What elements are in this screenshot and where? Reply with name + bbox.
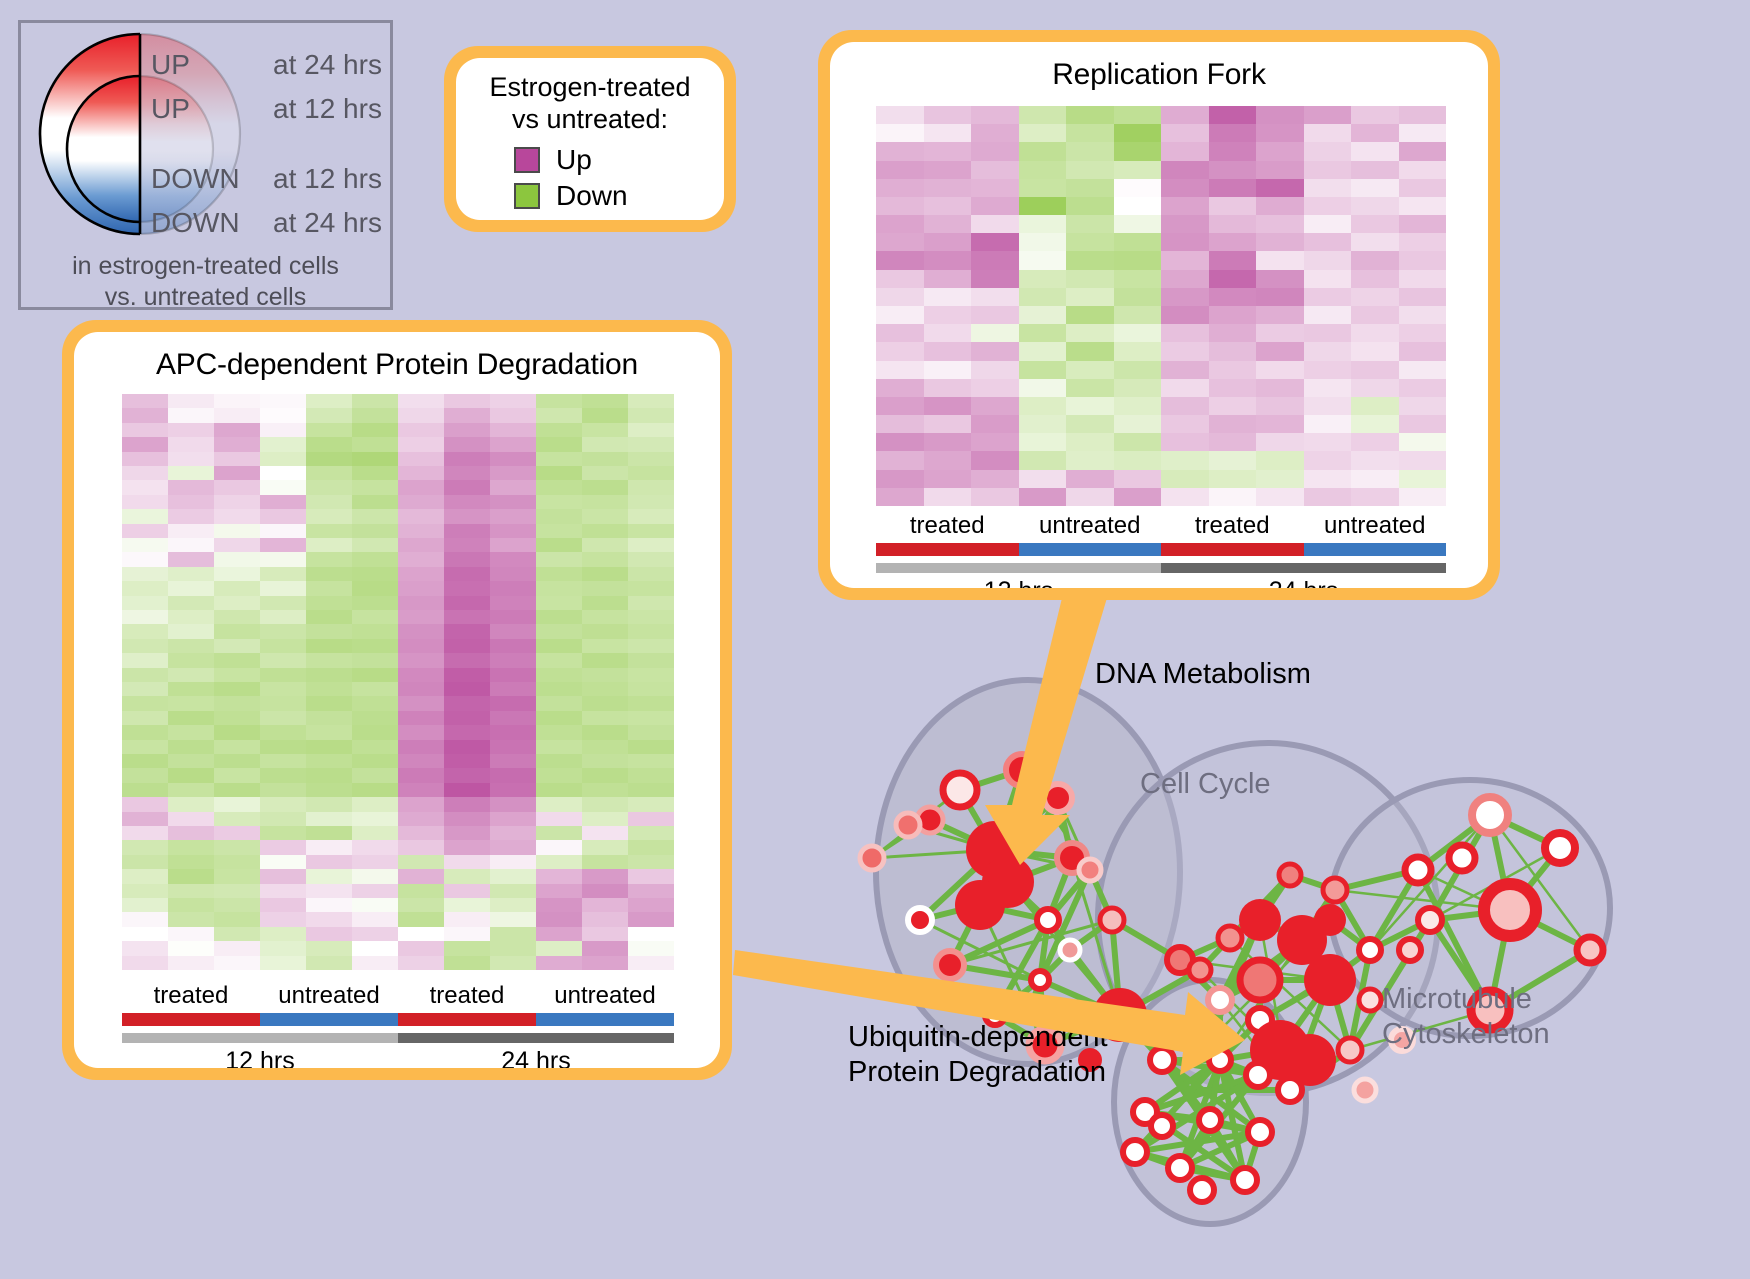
heatmap-cell xyxy=(122,668,168,682)
heatmap-cell xyxy=(628,668,674,682)
heatmap-cell xyxy=(1066,161,1114,179)
heatmap-cell xyxy=(444,509,490,523)
heatmap-cell xyxy=(260,840,306,854)
heatmap-cell xyxy=(876,451,924,469)
heatmap-cell xyxy=(352,682,398,696)
heatmap-cell xyxy=(1114,215,1162,233)
heatmap-cell xyxy=(1256,488,1304,506)
heatmap-cell xyxy=(444,797,490,811)
heatmap-cell xyxy=(1209,215,1257,233)
heatmap-cell xyxy=(971,306,1019,324)
heatmap-cell xyxy=(1019,415,1067,433)
heatmap-cell xyxy=(398,783,444,797)
heatmap-cell xyxy=(1351,288,1399,306)
heatmap-cell xyxy=(1019,470,1067,488)
heatmap-cell xyxy=(1399,470,1447,488)
heatmap-cell xyxy=(306,639,352,653)
heatmap-cell xyxy=(214,480,260,494)
heatmap-cell xyxy=(582,855,628,869)
heatmap-cell xyxy=(490,941,536,955)
heatmap-cell xyxy=(168,552,214,566)
network-node xyxy=(943,773,977,807)
heatmap-cell xyxy=(168,567,214,581)
heatmap-cell xyxy=(1256,233,1304,251)
heatmap-cell xyxy=(260,610,306,624)
heatmap-cell xyxy=(352,869,398,883)
heatmap-cell xyxy=(168,783,214,797)
heatmap-cell xyxy=(924,197,972,215)
ring-legend-footnote-line2: vs. untreated cells xyxy=(21,282,390,313)
heatmap-cell xyxy=(1114,288,1162,306)
heatmap-cell xyxy=(122,696,168,710)
heatmap-cell xyxy=(122,768,168,782)
heatmap-cell xyxy=(122,610,168,624)
heatmap-cell xyxy=(490,855,536,869)
heatmap-cell xyxy=(1161,161,1209,179)
heatmap-cell xyxy=(306,783,352,797)
heatmap-cell xyxy=(490,509,536,523)
heatmap-cell xyxy=(924,324,972,342)
heatmap-cell xyxy=(168,452,214,466)
heatmap-cell xyxy=(352,768,398,782)
heatmap-cell xyxy=(1066,488,1114,506)
heatmap-cell xyxy=(1114,488,1162,506)
heatmap-cell xyxy=(444,610,490,624)
heatmap-cell xyxy=(260,480,306,494)
heatmap-cell xyxy=(490,452,536,466)
cluster-label-microtubule-line2: Cytoskeleton xyxy=(1382,1017,1550,1052)
heatmap-cell xyxy=(536,495,582,509)
heatmap-cell xyxy=(628,408,674,422)
network-node xyxy=(1359,989,1381,1011)
heatmap-cell xyxy=(122,869,168,883)
heatmap-cell xyxy=(398,480,444,494)
heatmap-cell xyxy=(214,668,260,682)
network-node xyxy=(1168,1156,1192,1180)
heatmap-cell xyxy=(536,423,582,437)
heatmap-cell xyxy=(1161,488,1209,506)
heatmap-cell xyxy=(398,552,444,566)
heatmap-cell xyxy=(260,437,306,451)
heatmap-cell xyxy=(628,452,674,466)
heatmap-cell xyxy=(1304,179,1352,197)
heatmap-cell xyxy=(490,711,536,725)
heatmap-cell xyxy=(536,855,582,869)
heatmap-cell xyxy=(1019,306,1067,324)
heatmap-cell xyxy=(1114,161,1162,179)
heatmap-cell xyxy=(168,581,214,595)
heatmap-cell xyxy=(168,711,214,725)
heatmap-cell xyxy=(444,869,490,883)
heatmap-cell xyxy=(876,251,924,269)
heatmap-cell xyxy=(214,423,260,437)
heatmap-cell xyxy=(490,480,536,494)
heatmap-cell xyxy=(582,668,628,682)
heatmap-cell xyxy=(1019,251,1067,269)
heatmap-cell xyxy=(398,927,444,941)
heatmap-cell xyxy=(876,306,924,324)
network-node xyxy=(1208,988,1232,1012)
heatmap-cell xyxy=(536,408,582,422)
heatmap-cell xyxy=(398,596,444,610)
heatmap-cell xyxy=(1351,361,1399,379)
heatmap-cell xyxy=(1399,306,1447,324)
heatmap-cell xyxy=(398,567,444,581)
heatmap-cell xyxy=(444,596,490,610)
heatmap-cell xyxy=(536,783,582,797)
heatmap-cell xyxy=(444,927,490,941)
heatmap-cell xyxy=(352,596,398,610)
heatmap-cell xyxy=(582,538,628,552)
network-node xyxy=(936,951,964,979)
heatmap-cell xyxy=(971,361,1019,379)
heatmap-cell xyxy=(306,826,352,840)
heatmap-cell xyxy=(122,452,168,466)
heatmap-cell xyxy=(1351,270,1399,288)
condition-bar-untreated xyxy=(1304,543,1447,556)
heatmap-cell xyxy=(1114,306,1162,324)
heatmap-cell xyxy=(352,754,398,768)
heatmap-cell xyxy=(260,668,306,682)
heatmap-cell xyxy=(168,524,214,538)
cluster-label-microtubule: Microtubule Cytoskeleton xyxy=(1382,982,1550,1052)
heatmap-cell xyxy=(1066,288,1114,306)
network-node xyxy=(1199,1109,1221,1131)
heatmap-cell xyxy=(490,495,536,509)
heatmap-cell xyxy=(582,898,628,912)
heatmap-cell xyxy=(1066,251,1114,269)
heatmap-cell xyxy=(260,826,306,840)
heatmap-cell xyxy=(628,423,674,437)
ring-legend-direction: UP xyxy=(151,95,273,123)
heatmap-cell xyxy=(444,567,490,581)
heatmap-cell xyxy=(490,524,536,538)
heatmap-cell xyxy=(260,408,306,422)
heatmap-cell xyxy=(1161,142,1209,160)
heatmap-cell xyxy=(1399,233,1447,251)
heatmap-cell xyxy=(1161,342,1209,360)
heatmap-cell xyxy=(260,797,306,811)
heatmap-cell xyxy=(214,869,260,883)
heatmap-cell xyxy=(260,524,306,538)
heatmap-cell xyxy=(260,711,306,725)
heatmap-cell xyxy=(628,437,674,451)
heatmap-cell xyxy=(1399,197,1447,215)
heatmap-cell xyxy=(1304,415,1352,433)
updown-key-panel: Estrogen-treated vs untreated: Up Down xyxy=(444,46,736,232)
heatmap-cell xyxy=(214,682,260,696)
heatmap-cell xyxy=(1209,161,1257,179)
heatmap-cell xyxy=(924,470,972,488)
network-node xyxy=(1100,908,1124,932)
heatmap-cell xyxy=(214,653,260,667)
heatmap-cell xyxy=(582,408,628,422)
heatmap-cell xyxy=(260,624,306,638)
heatmap-cell xyxy=(971,161,1019,179)
heatmap-cell xyxy=(536,639,582,653)
heatmap-cell xyxy=(536,768,582,782)
heatmap-cell xyxy=(876,233,924,251)
condition-bar-untreated xyxy=(536,1013,674,1026)
heatmap-cell xyxy=(1304,379,1352,397)
heatmap-cell xyxy=(876,324,924,342)
heatmap-cell xyxy=(1209,233,1257,251)
heatmap-cell xyxy=(582,696,628,710)
heatmap-cell xyxy=(1114,379,1162,397)
apc-heatmap xyxy=(122,394,674,970)
heatmap-cell xyxy=(122,754,168,768)
heatmap-cell xyxy=(1161,215,1209,233)
heatmap-cell xyxy=(306,682,352,696)
heatmap-cell xyxy=(490,596,536,610)
heatmap-cell xyxy=(306,927,352,941)
heatmap-cell xyxy=(1304,215,1352,233)
ring-legend-row: DOWN at 12 hrs xyxy=(151,165,382,209)
heatmap-cell xyxy=(444,826,490,840)
heatmap-cell xyxy=(1399,324,1447,342)
updown-key-row-up: Up xyxy=(514,142,724,178)
network-node xyxy=(1545,833,1575,863)
heatmap-cell xyxy=(628,912,674,926)
heatmap-cell xyxy=(490,826,536,840)
heatmap-cell xyxy=(628,682,674,696)
heatmap-cell xyxy=(214,408,260,422)
heatmap-cell xyxy=(536,552,582,566)
heatmap-cell xyxy=(168,696,214,710)
heatmap-cell xyxy=(1066,215,1114,233)
heatmap-cell xyxy=(490,884,536,898)
heatmap-cell xyxy=(168,826,214,840)
heatmap-cell xyxy=(490,394,536,408)
heatmap-cell xyxy=(1351,197,1399,215)
heatmap-cell xyxy=(876,106,924,124)
heatmap-cell xyxy=(1351,161,1399,179)
heatmap-cell xyxy=(214,538,260,552)
heatmap-cell xyxy=(1399,361,1447,379)
heatmap-cell xyxy=(352,624,398,638)
network-node xyxy=(1354,1079,1376,1101)
heatmap-cell xyxy=(628,927,674,941)
heatmap-cell xyxy=(490,668,536,682)
heatmap-cell xyxy=(924,142,972,160)
network-node xyxy=(1190,1178,1214,1202)
heatmap-cell xyxy=(444,696,490,710)
heatmap-cell xyxy=(168,495,214,509)
heatmap-cell xyxy=(536,912,582,926)
network-node xyxy=(1020,1000,1040,1020)
protein-network-diagram: DNA Metabolism Cell Cycle Microtubule Cy… xyxy=(790,620,1750,1279)
heatmap-cell xyxy=(582,437,628,451)
time-labels: 12 hrs 24 hrs xyxy=(876,577,1446,588)
heatmap-cell xyxy=(1209,270,1257,288)
heatmap-cell xyxy=(122,552,168,566)
heatmap-cell xyxy=(1399,161,1447,179)
heatmap-cell xyxy=(536,394,582,408)
heatmap-cell xyxy=(260,423,306,437)
heatmap-cell xyxy=(122,538,168,552)
heatmap-cell xyxy=(876,179,924,197)
ring-legend-direction: DOWN xyxy=(151,165,273,193)
heatmap-cell xyxy=(168,423,214,437)
heatmap-cell xyxy=(444,912,490,926)
heatmap-cell xyxy=(260,653,306,667)
heatmap-cell xyxy=(214,524,260,538)
network-node xyxy=(860,846,884,870)
heatmap-cell xyxy=(536,524,582,538)
heatmap-cell xyxy=(398,437,444,451)
heatmap-cell xyxy=(1161,233,1209,251)
heatmap-cell xyxy=(1256,270,1304,288)
heatmap-cell xyxy=(1351,106,1399,124)
apc-title: APC-dependent Protein Degradation xyxy=(74,332,720,382)
heatmap-cell xyxy=(582,912,628,926)
ring-legend-time: at 12 hrs xyxy=(273,95,382,123)
network-node xyxy=(1240,960,1280,1000)
heatmap-cell xyxy=(536,452,582,466)
heatmap-cell xyxy=(306,754,352,768)
heatmap-cell xyxy=(1256,415,1304,433)
heatmap-cell xyxy=(1256,215,1304,233)
heatmap-cell xyxy=(260,552,306,566)
heatmap-cell xyxy=(582,452,628,466)
heatmap-cell xyxy=(306,725,352,739)
heatmap-cell xyxy=(490,840,536,854)
heatmap-cell xyxy=(628,826,674,840)
heatmap-cell xyxy=(306,855,352,869)
condition-label: treated xyxy=(1161,512,1304,540)
heatmap-cell xyxy=(628,538,674,552)
heatmap-cell xyxy=(352,466,398,480)
heatmap-cell xyxy=(536,466,582,480)
heatmap-cell xyxy=(1019,142,1067,160)
heatmap-cell xyxy=(122,941,168,955)
heatmap-cell xyxy=(876,379,924,397)
heatmap-cell xyxy=(582,754,628,768)
heatmap-cell xyxy=(924,215,972,233)
heatmap-cell xyxy=(628,624,674,638)
heatmap-cell xyxy=(1019,106,1067,124)
condition-label: treated xyxy=(398,982,536,1010)
heatmap-cell xyxy=(1019,179,1067,197)
heatmap-cell xyxy=(924,288,972,306)
heatmap-cell xyxy=(352,524,398,538)
network-node xyxy=(1449,845,1475,871)
condition-bar-treated xyxy=(122,1013,260,1026)
heatmap-cell xyxy=(1256,433,1304,451)
heatmap-cell xyxy=(1114,233,1162,251)
heatmap-cell xyxy=(260,941,306,955)
heatmap-cell xyxy=(306,466,352,480)
heatmap-cell xyxy=(582,740,628,754)
heatmap-cell xyxy=(260,682,306,696)
heatmap-cell xyxy=(444,653,490,667)
heatmap-cell xyxy=(122,682,168,696)
heatmap-cell xyxy=(628,653,674,667)
cluster-label-ubiquitin-line1: Ubiquitin-dependent xyxy=(848,1020,1108,1055)
heatmap-cell xyxy=(214,639,260,653)
heatmap-cell xyxy=(444,408,490,422)
cluster-label-ubiquitin: Ubiquitin-dependent Protein Degradation xyxy=(848,1020,1108,1090)
heatmap-cell xyxy=(1351,397,1399,415)
heatmap-cell xyxy=(214,437,260,451)
heatmap-cell xyxy=(398,725,444,739)
heatmap-cell xyxy=(1161,306,1209,324)
heatmap-cell xyxy=(536,682,582,696)
updown-key-title-line2: vs untreated: xyxy=(464,104,716,136)
heatmap-cell xyxy=(352,696,398,710)
heatmap-cell xyxy=(352,639,398,653)
condition-color-bar xyxy=(876,543,1446,556)
network-node xyxy=(896,813,920,837)
condition-label: treated xyxy=(876,512,1019,540)
heatmap-cell xyxy=(628,509,674,523)
heatmap-cell xyxy=(1209,470,1257,488)
heatmap-cell xyxy=(398,408,444,422)
heatmap-cell xyxy=(352,423,398,437)
heatmap-cell xyxy=(628,466,674,480)
heatmap-cell xyxy=(1304,324,1352,342)
heatmap-cell xyxy=(214,754,260,768)
heatmap-cell xyxy=(122,797,168,811)
heatmap-cell xyxy=(306,653,352,667)
heatmap-cell xyxy=(536,596,582,610)
heatmap-cell xyxy=(1399,415,1447,433)
heatmap-cell xyxy=(876,124,924,142)
network-node xyxy=(1246,1063,1270,1087)
heatmap-cell xyxy=(628,610,674,624)
heatmap-cell xyxy=(398,740,444,754)
updown-key-title: Estrogen-treated vs untreated: xyxy=(456,58,724,138)
heatmap-cell xyxy=(260,696,306,710)
heatmap-cell xyxy=(971,251,1019,269)
heatmap-cell xyxy=(628,941,674,955)
heatmap-cell xyxy=(306,768,352,782)
heatmap-cell xyxy=(971,106,1019,124)
heatmap-cell xyxy=(214,797,260,811)
heatmap-cell xyxy=(1114,179,1162,197)
heatmap-cell xyxy=(168,740,214,754)
heatmap-cell xyxy=(582,552,628,566)
heatmap-cell xyxy=(628,855,674,869)
heatmap-cell xyxy=(924,397,972,415)
heatmap-cell xyxy=(260,725,306,739)
heatmap-cell xyxy=(536,812,582,826)
heatmap-cell xyxy=(444,538,490,552)
heatmap-cell xyxy=(1256,288,1304,306)
heatmap-cell xyxy=(971,470,1019,488)
updown-key-rows: Up Down xyxy=(456,138,724,214)
heatmap-cell xyxy=(536,711,582,725)
time-label-24hrs: 24 hrs xyxy=(398,1047,674,1068)
network-node xyxy=(1037,909,1059,931)
heatmap-cell xyxy=(306,740,352,754)
heatmap-cell xyxy=(260,466,306,480)
heatmap-cell xyxy=(490,538,536,552)
ring-legend-footnote-line1: in estrogen-treated cells xyxy=(21,251,390,282)
heatmap-cell xyxy=(398,668,444,682)
heatmap-cell xyxy=(306,956,352,970)
heatmap-cell xyxy=(122,394,168,408)
heatmap-cell xyxy=(924,433,972,451)
heatmap-cell xyxy=(260,855,306,869)
heatmap-cell xyxy=(168,812,214,826)
heatmap-cell xyxy=(1351,379,1399,397)
heatmap-cell xyxy=(1304,161,1352,179)
heatmap-cell xyxy=(1066,106,1114,124)
heatmap-cell xyxy=(168,725,214,739)
heatmap-cell xyxy=(971,342,1019,360)
heatmap-cell xyxy=(924,179,972,197)
